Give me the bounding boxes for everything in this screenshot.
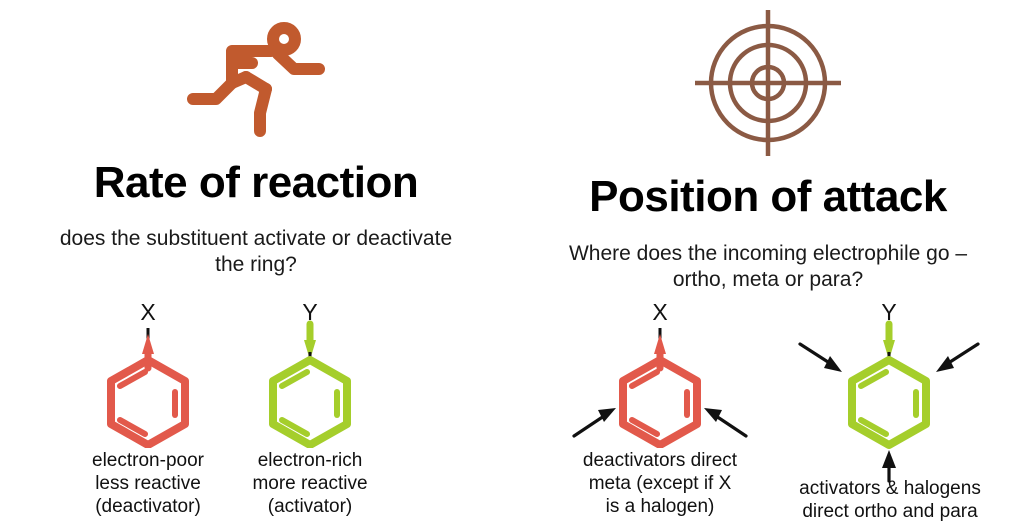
target-crosshair-icon-slot — [512, 8, 1024, 158]
running-person-icon — [186, 21, 326, 143]
panel-position-of-attack: Position of attack Where does the incomi… — [512, 0, 1024, 530]
substituent-label-x: X — [140, 299, 155, 325]
attack-arrow-ortho-left — [800, 344, 842, 372]
benzene-ring-x-deactivator-svg: X — [93, 298, 203, 448]
double-bond-lines — [120, 372, 175, 434]
panel-rate-of-reaction: Rate of reaction does the substituent ac… — [0, 0, 512, 530]
benzene-ring-y-ortho-para-svg: Y — [784, 298, 994, 483]
attack-arrow-meta-right — [704, 408, 746, 436]
panel-title-rate-of-reaction: Rate of reaction — [0, 158, 512, 208]
attack-arrow-ortho-right — [936, 344, 978, 372]
target-crosshair-icon — [693, 8, 843, 158]
double-bond-lines — [861, 372, 916, 434]
caption-meta-director: deactivators direct meta (except if X is… — [560, 450, 760, 518]
attack-arrow-para-bottom — [882, 450, 896, 481]
benzene-ring-y-activator-svg: Y — [255, 298, 365, 448]
panel-title-position-of-attack: Position of attack — [512, 172, 1024, 222]
attack-arrow-meta-left — [574, 408, 616, 436]
benzene-ring-x-meta-svg: X — [560, 298, 760, 448]
molecule-benzene-y-activator: Y — [255, 298, 365, 448]
caption-ortho-para-director: activators & halogens direct ortho and p… — [782, 478, 998, 524]
molecule-benzene-x-meta-director: X — [560, 298, 760, 448]
caption-activator: electron-rich more reactive (activator) — [222, 450, 398, 518]
molecule-benzene-x-deactivator: X — [93, 298, 203, 448]
substituent-label-x: X — [652, 299, 667, 325]
running-person-icon-slot — [0, 18, 512, 146]
panel-subtitle-rate-of-reaction: does the substituent activate or deactiv… — [0, 226, 512, 277]
panel-subtitle-position-of-attack: Where does the incoming electrophile go … — [512, 241, 1024, 292]
double-bond-lines — [282, 372, 337, 434]
caption-deactivator: electron-poor less reactive (deactivator… — [60, 450, 236, 518]
molecule-benzene-y-ortho-para-director: Y — [784, 298, 994, 483]
double-bond-lines — [632, 372, 687, 434]
